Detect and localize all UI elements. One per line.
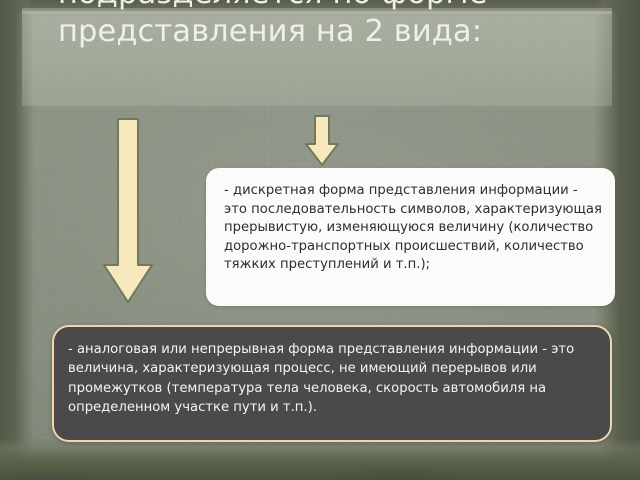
callout-discrete-text: - дискретная форма представления информа… [224, 182, 603, 275]
presentation-slide: подразделяется по форме представления на… [0, 0, 640, 480]
callout-analog: - аналоговая или непрерывная форма предс… [52, 325, 612, 442]
slide-border-bottom-texture [0, 458, 640, 480]
page-title: подразделяется по форме представления на… [58, 0, 638, 51]
title-panel: подразделяется по форме представления на… [22, 11, 612, 106]
down-arrow-short-icon [303, 114, 341, 168]
callout-analog-text: - аналоговая или непрерывная форма предс… [68, 340, 598, 418]
down-arrow-long-icon [100, 117, 156, 305]
callout-discrete: - дискретная форма представления информа… [206, 168, 615, 306]
